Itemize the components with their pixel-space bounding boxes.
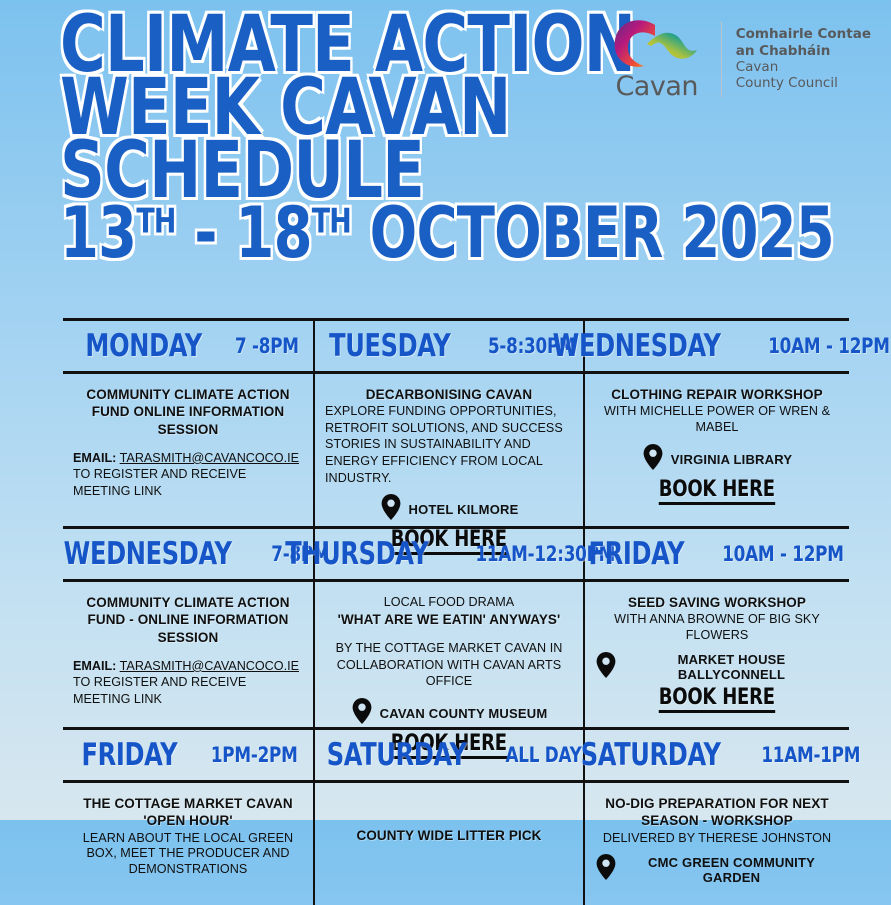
title-date-line: 13TH - 18TH OCTOBER 2025 (60, 203, 834, 263)
email-label: EMAIL: (73, 659, 116, 673)
day-label: MONDAY (85, 328, 202, 364)
location-name: MARKET HOUSE BALLYCONNELL (624, 652, 839, 682)
event-email-line: EMAIL: TARASMITH@CAVANCOCO.IE TO REGISTE… (73, 450, 303, 499)
event-cell: COMMUNITY CLIMATE ACTION FUND ONLINE INF… (63, 374, 315, 526)
event-cell: SEED SAVING WORKSHOPWITH ANNA BROWNE OF … (585, 582, 849, 727)
schedule-grid: MONDAY7 -8PMTUESDAY5-8:30PMWEDNESDAY10AM… (63, 318, 849, 905)
schedule-body-row: COMMUNITY CLIMATE ACTION FUND ONLINE INF… (63, 374, 849, 526)
schedule-body-row: THE COTTAGE MARKET CAVAN 'OPEN HOUR'LEAR… (63, 783, 849, 905)
schedule-row-group: WEDNESDAY7-8PMTHURSDAY11AM-12:30PMFRIDAY… (63, 526, 849, 727)
email-instructions: TO REGISTER AND RECEIVE MEETING LINK (73, 675, 246, 705)
day-label: SATURDAY (581, 737, 721, 773)
location-pin-icon (380, 493, 402, 526)
event-title: SEED SAVING WORKSHOP (595, 594, 839, 611)
location-name: VIRGINIA LIBRARY (671, 452, 792, 467)
event-title: DECARBONISING CAVAN (325, 386, 573, 403)
date-start-day: 13 (60, 192, 136, 274)
day-header-cell: WEDNESDAY10AM - 12PM (585, 321, 849, 371)
email-instructions: TO REGISTER AND RECEIVE MEETING LINK (73, 467, 246, 497)
event-location: VIRGINIA LIBRARY (595, 443, 839, 476)
location-pin-icon (595, 853, 617, 886)
day-header-cell: SATURDAY11AM-1PM (585, 730, 849, 780)
event-subtitle: WITH MICHELLE POWER OF WREN & MABEL (595, 404, 839, 436)
email-address[interactable]: TARASMITH@CAVANCOCO.IE (120, 451, 299, 465)
event-description: EXPLORE FUNDING OPPORTUNITIES, RETROFIT … (325, 403, 573, 486)
day-label: WEDNESDAY (553, 328, 721, 364)
day-label: WEDNESDAY (63, 536, 231, 572)
event-title: CLOTHING REPAIR WORKSHOP (595, 386, 839, 403)
time-label: 10AM - 12PM (722, 542, 844, 566)
schedule-body-row: COMMUNITY CLIMATE ACTION FUND - ONLINE I… (63, 582, 849, 727)
day-header-cell: FRIDAY1PM-2PM (63, 730, 315, 780)
event-subtitle: WITH ANNA BROWNE OF BIG SKY FLOWERS (595, 612, 839, 644)
location-pin-icon (642, 443, 664, 476)
event-title: COUNTY WIDE LITTER PICK (325, 827, 573, 844)
schedule-row-group: FRIDAY1PM-2PMSATURDAYALL DAYSATURDAY11AM… (63, 727, 849, 905)
event-cell: DECARBONISING CAVANEXPLORE FUNDING OPPOR… (315, 374, 585, 526)
event-title: 'WHAT ARE WE EATIN' ANYWAYS' (325, 611, 573, 628)
day-header-cell: SATURDAYALL DAY (315, 730, 585, 780)
logo-divider (721, 21, 722, 97)
time-label: 7 -8PM (235, 334, 299, 358)
event-cell: COUNTY WIDE LITTER PICK (315, 783, 585, 905)
day-header-cell: THURSDAY11AM-12:30PM (315, 529, 585, 579)
date-end-day: 18 (235, 192, 311, 274)
council-english-line-1: Cavan (736, 59, 871, 75)
location-pin-icon (351, 697, 373, 730)
event-subtitle: DELIVERED BY THERESE JOHNSTON (595, 831, 839, 847)
schedule-header-row: FRIDAY1PM-2PMSATURDAYALL DAYSATURDAY11AM… (63, 727, 849, 783)
date-start-suffix: TH (136, 202, 175, 241)
book-here-link[interactable]: BOOK HERE (659, 479, 775, 505)
email-address[interactable]: TARASMITH@CAVANCOCO.IE (120, 659, 299, 673)
council-name: Comhairle Contae an Chabháin Cavan Count… (736, 26, 871, 92)
location-name: CMC GREEN COMMUNITY GARDEN (624, 855, 839, 885)
day-header-cell: WEDNESDAY7-8PM (63, 529, 315, 579)
event-cell: NO-DIG PREPARATION FOR NEXT SEASON - WOR… (585, 783, 849, 905)
location-name: HOTEL KILMORE (409, 502, 519, 517)
event-title: NO-DIG PREPARATION FOR NEXT SEASON - WOR… (595, 795, 839, 830)
schedule-header-row: WEDNESDAY7-8PMTHURSDAY11AM-12:30PMFRIDAY… (63, 526, 849, 582)
time-label: 10AM - 12PM (768, 334, 890, 358)
event-title: COMMUNITY CLIMATE ACTION FUND - ONLINE I… (73, 594, 303, 646)
poster-header: CLIMATE ACTION WEEK CAVAN SCHEDULE 13TH … (0, 0, 891, 312)
day-header-cell: MONDAY7 -8PM (63, 321, 315, 371)
date-month-year: OCTOBER 2025 (370, 192, 834, 274)
time-label: ALL DAY (505, 743, 581, 767)
email-label: EMAIL: (73, 451, 116, 465)
cavan-logo-mark: Cavan (607, 16, 707, 102)
location-name: CAVAN COUNTY MUSEUM (380, 706, 548, 721)
schedule-row-group: MONDAY7 -8PMTUESDAY5-8:30PMWEDNESDAY10AM… (63, 318, 849, 526)
cavan-swirl-icon (611, 16, 703, 72)
event-email-line: EMAIL: TARASMITH@CAVANCOCO.IE TO REGISTE… (73, 658, 303, 707)
council-irish-line-2: an Chabháin (736, 43, 871, 59)
day-label: SATURDAY (327, 737, 467, 773)
book-here-link[interactable]: BOOK HERE (659, 687, 775, 713)
event-description: BY THE COTTAGE MARKET CAVAN IN COLLABORA… (325, 640, 573, 690)
event-location: MARKET HOUSE BALLYCONNELL (595, 651, 839, 684)
time-label: 11AM-1PM (762, 743, 861, 767)
event-subtitle: LEARN ABOUT THE LOCAL GREEN BOX, MEET TH… (73, 831, 303, 879)
day-header-cell: FRIDAY10AM - 12PM (585, 529, 849, 579)
event-cell: LOCAL FOOD DRAMA'WHAT ARE WE EATIN' ANYW… (315, 582, 585, 727)
event-location: HOTEL KILMORE (325, 493, 573, 526)
time-label: 1PM-2PM (211, 743, 298, 767)
event-cell: CLOTHING REPAIR WORKSHOPWITH MICHELLE PO… (585, 374, 849, 526)
event-location: CAVAN COUNTY MUSEUM (325, 697, 573, 730)
cavan-county-council-logo: Cavan Comhairle Contae an Chabháin Cavan… (607, 16, 871, 102)
date-dash: - (194, 192, 216, 274)
event-cell: COMMUNITY CLIMATE ACTION FUND - ONLINE I… (63, 582, 315, 727)
council-irish-line-1: Comhairle Contae (736, 26, 871, 42)
day-label: TUESDAY (329, 328, 450, 364)
event-cell: THE COTTAGE MARKET CAVAN 'OPEN HOUR'LEAR… (63, 783, 315, 905)
event-subtitle: LOCAL FOOD DRAMA (325, 595, 573, 611)
cavan-wordmark: Cavan (607, 71, 707, 102)
day-label: FRIDAY (81, 737, 177, 773)
date-end-suffix: TH (312, 202, 351, 241)
day-label: THURSDAY (286, 536, 429, 572)
event-title: COMMUNITY CLIMATE ACTION FUND ONLINE INF… (73, 386, 303, 438)
event-title: THE COTTAGE MARKET CAVAN 'OPEN HOUR' (73, 795, 303, 830)
event-location: CMC GREEN COMMUNITY GARDEN (595, 853, 839, 886)
schedule-header-row: MONDAY7 -8PMTUESDAY5-8:30PMWEDNESDAY10AM… (63, 318, 849, 374)
council-english-line-2: County Council (736, 75, 871, 91)
day-label: FRIDAY (589, 536, 685, 572)
day-header-cell: TUESDAY5-8:30PM (315, 321, 585, 371)
location-pin-icon (595, 651, 617, 684)
